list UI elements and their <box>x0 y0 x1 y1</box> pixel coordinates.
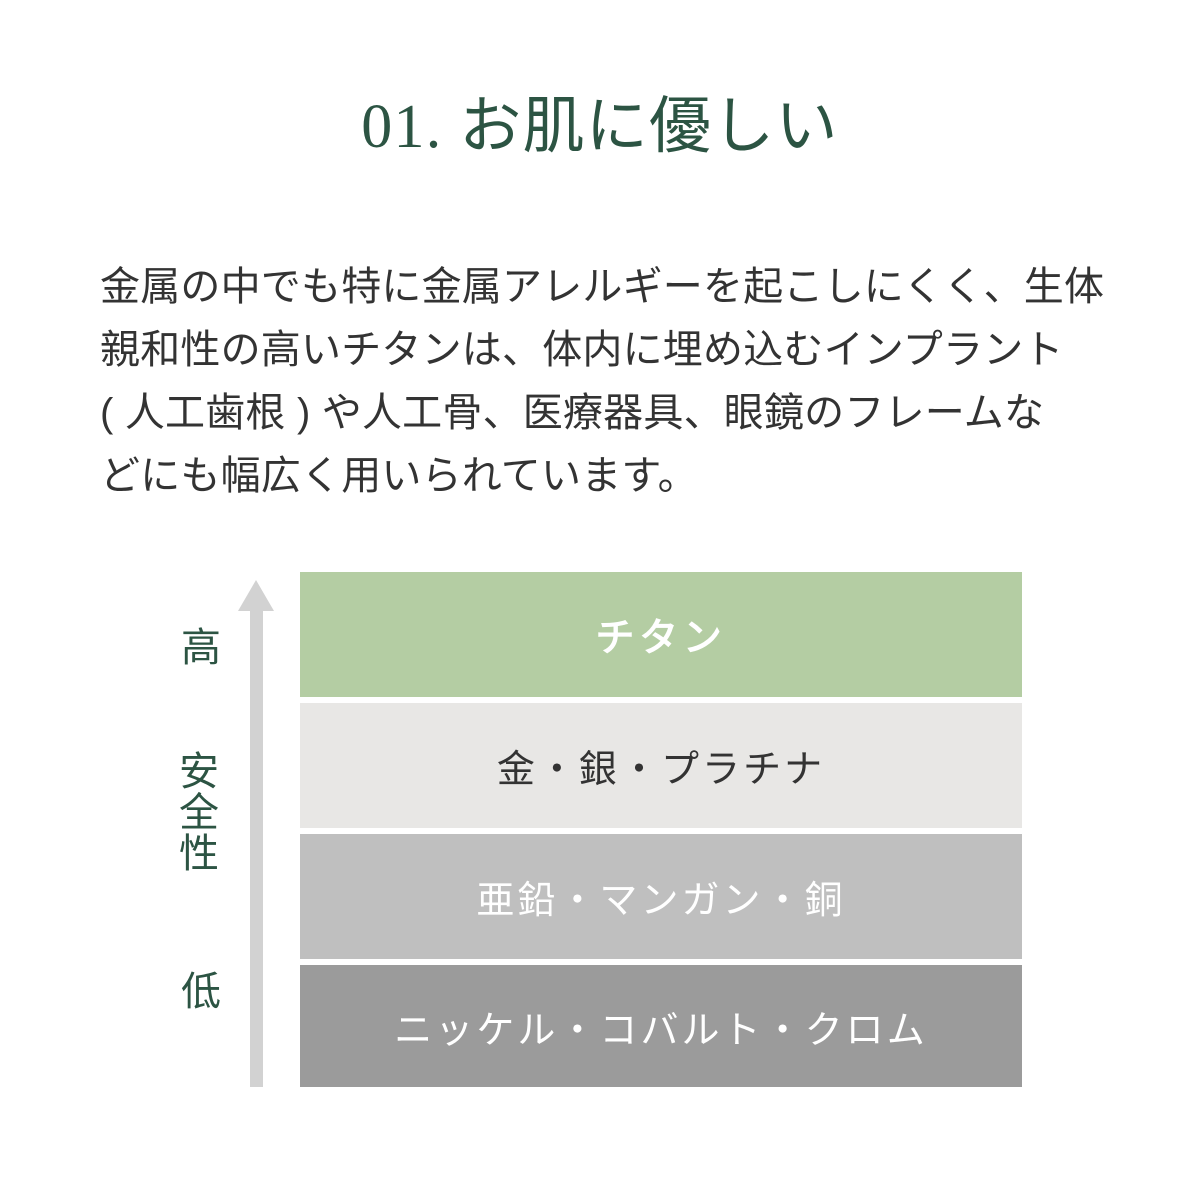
body-paragraph: 金属の中でも特に金属アレルギーを起こしにくく、生体 親和性の高いチタンは、体内に… <box>100 256 1110 508</box>
bar-label: 金・銀・プラチナ <box>497 738 825 793</box>
axis-label-low: 低 <box>168 972 234 1012</box>
bar-label: 亜鉛・マンガン・銅 <box>476 869 845 924</box>
arrow-shaft-icon <box>250 606 263 1087</box>
up-arrow-icon <box>238 580 274 1087</box>
chart-bars: チタン 金・銀・プラチナ 亜鉛・マンガン・銅 ニッケル・コバルト・クロム <box>300 572 1022 1087</box>
chart-axis-labels: 高 安全性 低 <box>168 572 234 1087</box>
body-line: 金属の中でも特に金属アレルギーを起こしにくく、生体 <box>100 256 1110 319</box>
body-line: ( 人工歯根 ) や人工骨、医療器具、眼鏡のフレームな <box>100 382 1110 445</box>
axis-label-safety: 安全性 <box>181 750 221 910</box>
table-row: ニッケル・コバルト・クロム <box>300 965 1022 1087</box>
page-title: 01. お肌に優しい <box>0 96 1200 158</box>
bar-label: ニッケル・コバルト・クロム <box>394 999 928 1054</box>
safety-ranking-chart: 高 安全性 低 チタン 金・銀・プラチナ 亜鉛・マンガン・銅 ニッケル・コバルト… <box>0 572 1200 1087</box>
table-row: チタン <box>300 572 1022 697</box>
bar-label: チタン <box>595 607 726 663</box>
body-line: どにも幅広く用いられています。 <box>100 445 1110 508</box>
table-row: 金・銀・プラチナ <box>300 703 1022 828</box>
axis-label-high: 高 <box>168 628 234 668</box>
body-line: 親和性の高いチタンは、体内に埋め込むインプラント <box>100 319 1110 382</box>
table-row: 亜鉛・マンガン・銅 <box>300 834 1022 959</box>
